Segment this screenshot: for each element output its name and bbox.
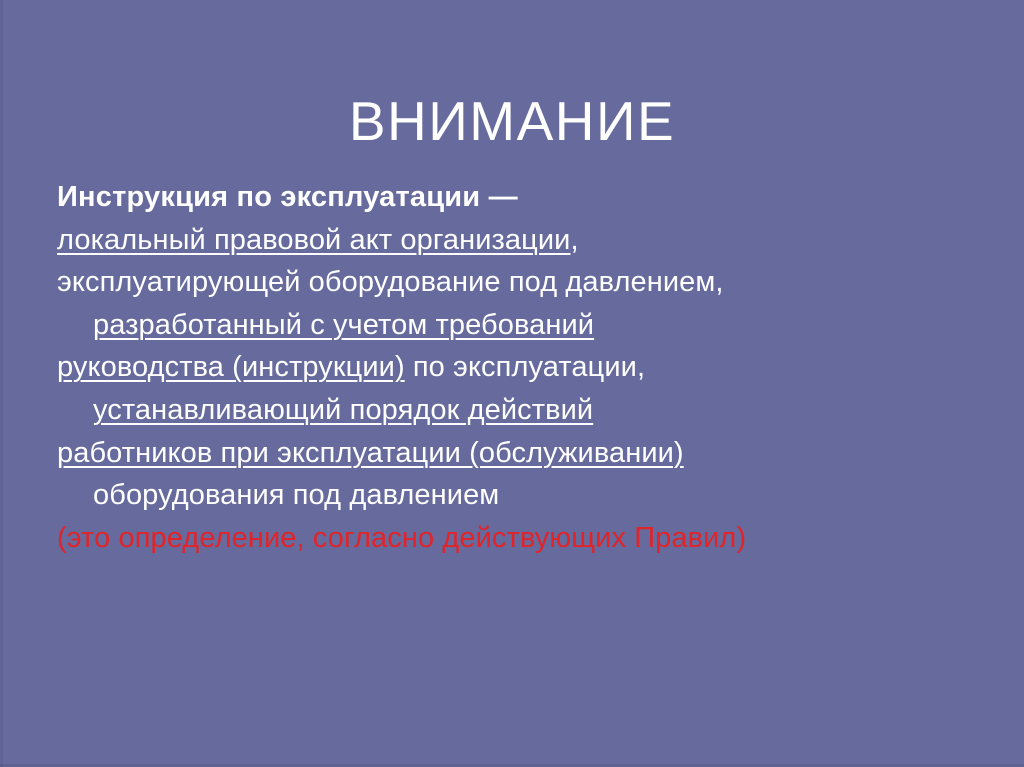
plain-text: , — [570, 224, 578, 256]
underlined-text: локальный правовой акт организации — [57, 224, 570, 256]
text-line-line-3: эксплуатирующей оборудование под давлени… — [57, 261, 957, 304]
text-line-line-1: Инструкция по эксплуатации — — [57, 176, 957, 219]
text-line-line-7: работников при эксплуатации (обслуживани… — [57, 432, 957, 475]
slide-body-text: Инструкция по эксплуатации — локальный п… — [57, 176, 957, 559]
underlined-text: разработанный с учетом требований — [93, 309, 594, 341]
page-title: ВНИМАНИЕ — [0, 91, 1024, 152]
underlined-text: руководства (инструкции) — [57, 351, 405, 383]
text-line-line-9: (это определение, согласно действующих П… — [57, 517, 957, 560]
plain-text: эксплуатирующей оборудование под давлени… — [57, 266, 724, 298]
text-line-line-8: оборудования под давлением — [57, 474, 957, 517]
presentation-slide: ВНИМАНИЕ Инструкция по эксплуатации — ло… — [0, 0, 1024, 767]
text-line-line-2: локальный правовой акт организации, — [57, 219, 957, 262]
plain-text: по эксплуатации, — [405, 351, 645, 383]
plain-text: Инструкция по эксплуатации — — [57, 181, 518, 213]
underlined-text: работников при эксплуатации (обслуживани… — [57, 437, 684, 469]
text-line-line-4: разработанный с учетом требований — [57, 304, 957, 347]
text-line-line-5: руководства (инструкции) по эксплуатации… — [57, 346, 957, 389]
plain-text: оборудования под давлением — [93, 479, 499, 511]
underlined-text: устанавливающий порядок действий — [93, 394, 593, 426]
text-line-line-6: устанавливающий порядок действий — [57, 389, 957, 432]
plain-text: (это определение, согласно действующих П… — [57, 522, 746, 554]
